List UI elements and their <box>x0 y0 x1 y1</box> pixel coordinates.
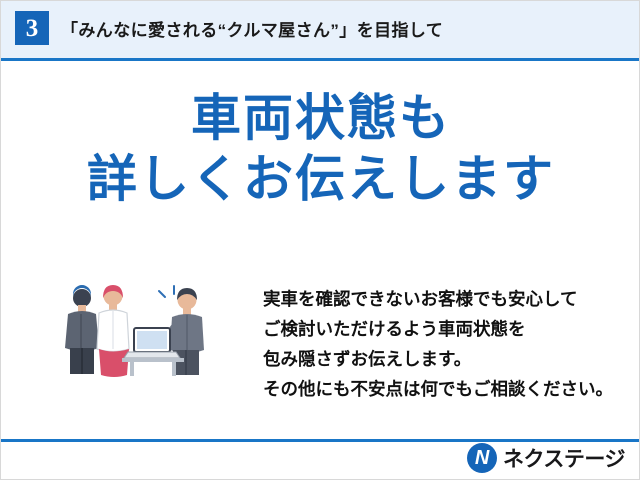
body-copy-line-1: 実車を確認できないお客様でも安心して <box>263 284 623 314</box>
footer-band: N ネクステージ <box>1 439 640 479</box>
body-copy-line-4: その他にも不安点は何でもご相談ください。 <box>263 374 623 404</box>
header-inner: 3 「みんなに愛される“クルマ屋さん”」を目指して <box>15 11 443 45</box>
logo-text: ネクステージ <box>503 443 625 473</box>
customer-man-figure <box>65 285 99 374</box>
customer-woman-figure <box>97 285 129 377</box>
headline-line-1: 車両状態も <box>1 89 640 148</box>
header-title: 「みんなに愛される“クルマ屋さん”」を目指して <box>61 16 443 41</box>
headline-line-2: 詳しくお伝えします <box>1 148 640 211</box>
staff-customer-illustration <box>56 276 246 386</box>
nextstage-logo: N ネクステージ <box>467 443 625 473</box>
logo-mark-icon: N <box>467 443 497 473</box>
body-copy-line-3: 包み隠さずお伝えします。 <box>263 344 623 374</box>
logo-mark-letter: N <box>475 448 489 468</box>
header-band: 3 「みんなに愛される“クルマ屋さん”」を目指して <box>1 1 640 61</box>
body-copy-line-2: ご検討いただけるよう車両状態を <box>263 314 623 344</box>
advertisement-banner: 3 「みんなに愛される“クルマ屋さん”」を目指して 車両状態も 詳しくお伝えしま… <box>0 0 640 480</box>
section-number-badge: 3 <box>15 11 49 45</box>
headline: 車両状態も 詳しくお伝えします <box>1 89 640 211</box>
illustration-svg <box>56 276 246 386</box>
body-copy: 実車を確認できないお客様でも安心して ご検討いただけるよう車両状態を 包み隠さず… <box>263 284 623 404</box>
